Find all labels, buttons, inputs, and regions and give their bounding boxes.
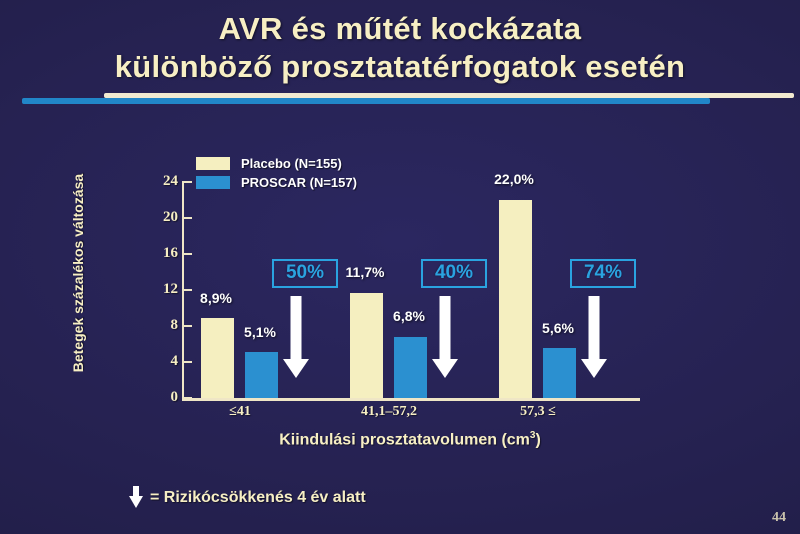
bar-value-placebo-3: 22,0% [479, 171, 549, 187]
bar-proscar-3 [543, 348, 576, 398]
legend-label-proscar: PROSCAR (N=157) [241, 175, 357, 190]
bar-value-placebo-1: 8,9% [181, 290, 251, 306]
y-axis-title: Betegek százalékos változása [70, 148, 86, 398]
callout-reduction-1: 50% [272, 259, 338, 288]
down-arrow-icon-1 [283, 296, 309, 378]
x-axis-title-tail: ) [535, 431, 540, 448]
slide-canvas: AVR és műtét kockázata különböző proszta… [0, 0, 800, 534]
callout-reduction-2: 40% [421, 259, 487, 288]
footnote: = Rizikócsökkenés 4 év alatt [128, 486, 366, 510]
legend-item-placebo: Placebo (N=155) [196, 155, 357, 172]
y-tick-label-20: 20 [148, 209, 178, 226]
x-tick-label-1: ≤41 [170, 404, 310, 420]
x-axis-title: Kiindulási prosztatavolumen (cm3) [150, 430, 670, 449]
footnote-label: = Rizikócsökkenés 4 év alatt [150, 489, 366, 507]
y-tick-label-24: 24 [148, 173, 178, 190]
down-arrow-icon-3 [581, 296, 607, 378]
down-arrow-icon-2 [432, 296, 458, 378]
x-tick-label-2: 41,1–57,2 [319, 404, 459, 420]
page-number: 44 [772, 510, 786, 526]
legend-label-placebo: Placebo (N=155) [241, 156, 342, 171]
y-tick-label-4: 4 [148, 353, 178, 370]
y-tick-label-8: 8 [148, 317, 178, 334]
y-tick-20 [184, 217, 192, 219]
x-tick-label-3: 57,3 ≤ [468, 404, 608, 420]
bar-chart: Betegek százalékos változása 0 4 8 12 16… [0, 0, 800, 534]
legend-swatch-placebo [196, 157, 230, 170]
x-axis-title-base: Kiindulási prosztatavolumen (cm [279, 431, 530, 448]
x-axis-line [182, 398, 640, 401]
legend-swatch-proscar [196, 176, 230, 189]
bar-proscar-2 [394, 337, 427, 398]
y-tick-24 [184, 181, 192, 183]
y-tick-4 [184, 361, 192, 363]
y-tick-0 [184, 397, 192, 399]
legend-item-proscar: PROSCAR (N=157) [196, 174, 357, 191]
bar-value-placebo-2: 11,7% [330, 264, 400, 280]
bar-placebo-3 [499, 200, 532, 398]
callout-reduction-3: 74% [570, 259, 636, 288]
down-arrow-icon-legend [128, 486, 144, 510]
bar-proscar-1 [245, 352, 278, 398]
y-tick-label-12: 12 [148, 281, 178, 298]
y-tick-8 [184, 325, 192, 327]
y-tick-16 [184, 253, 192, 255]
y-tick-label-16: 16 [148, 245, 178, 262]
chart-legend: Placebo (N=155) PROSCAR (N=157) [196, 155, 357, 193]
